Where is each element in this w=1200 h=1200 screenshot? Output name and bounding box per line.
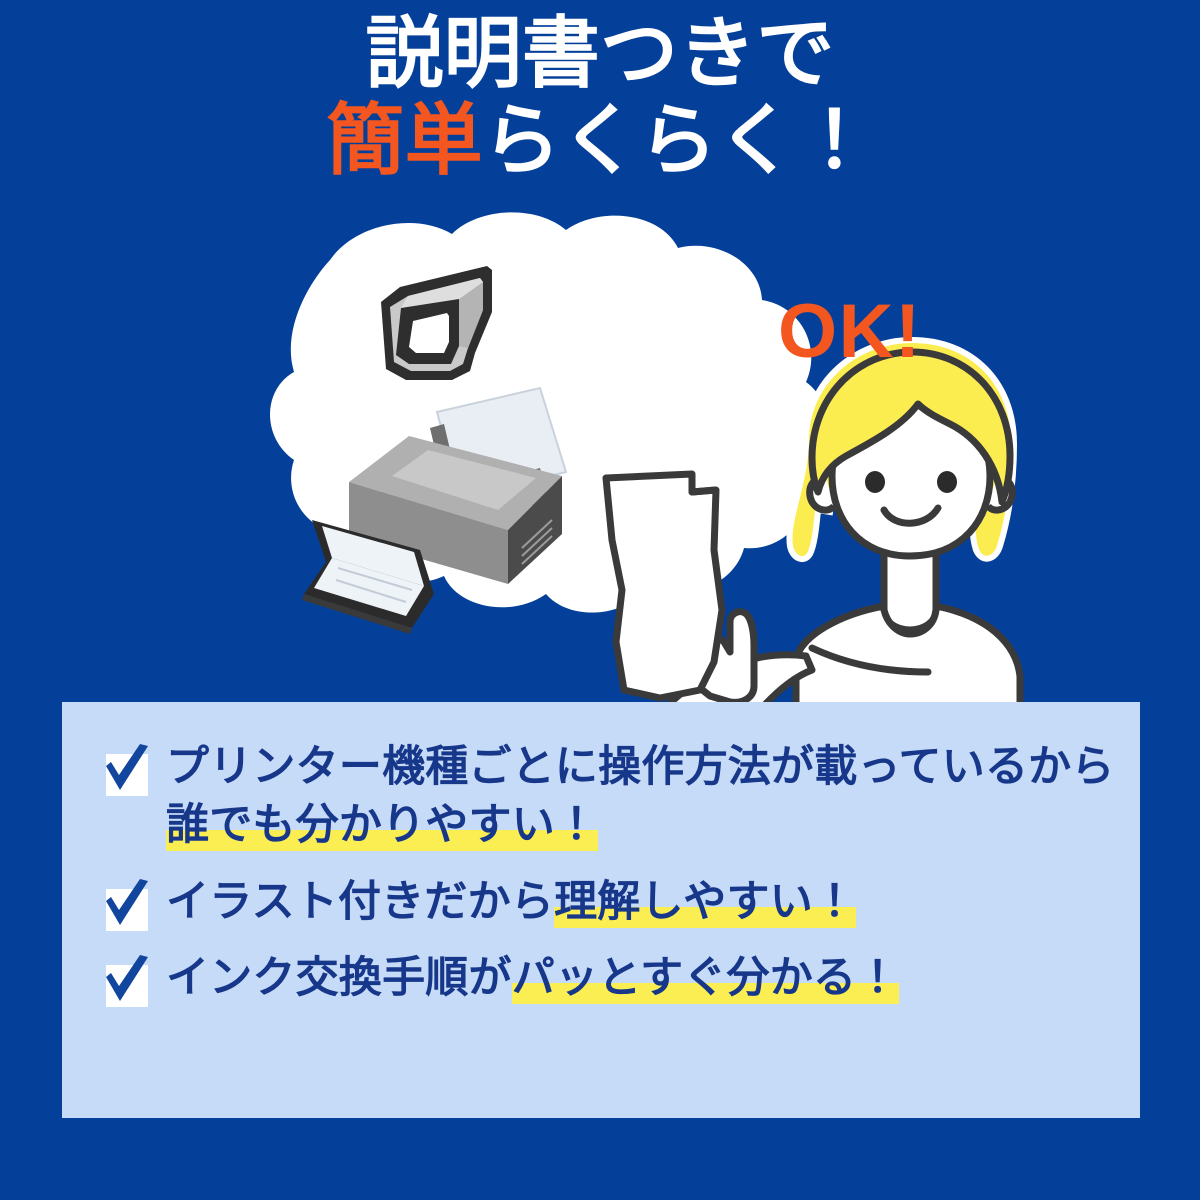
ok-callout-label: OK! [778, 288, 922, 375]
headline-line-1: 説明書つきで [0, 12, 1200, 95]
benefit-1-plain-1: プリンター機種ごとに操作方法が載って [166, 743, 942, 791]
benefit-2-plain-1: イラスト付きだから [166, 878, 554, 926]
list-item: プリンター機種ごとに操作方法が載っているから誰でも分かりやすい！ [100, 736, 1116, 855]
benefits-list: プリンター機種ごとに操作方法が載っているから誰でも分かりやすい！ イラスト付きだ… [100, 736, 1116, 1008]
eye-left [865, 471, 885, 493]
headline-line-2-rest: らくらく！ [483, 96, 874, 184]
benefit-2-highlight: 理解しやすい！ [554, 878, 856, 928]
benefit-3-plain-1: インク交換手順が [166, 954, 512, 1002]
list-item: インク交換手順がパッとすぐ分かる！ [100, 947, 1116, 1007]
list-item-text: インク交換手順がパッとすぐ分かる！ [166, 947, 899, 1007]
promo-poster: 説明書つきで 簡単らくらく！ OK! [0, 0, 1200, 1200]
headline-accent-word: 簡単 [326, 96, 482, 184]
instruction-sheet [606, 474, 722, 698]
benefit-1-highlight: 誰でも分かりやすい！ [166, 801, 598, 851]
list-item-text: イラスト付きだから理解しやすい！ [166, 871, 856, 931]
benefit-1-plain-2: いるから [942, 743, 1115, 791]
checkmark-icon [100, 744, 152, 796]
hero-illustration [0, 190, 1200, 710]
checkmark-icon [100, 955, 152, 1007]
list-item: イラスト付きだから理解しやすい！ [100, 871, 1116, 931]
benefit-3-highlight: パッとすぐ分かる！ [512, 954, 900, 1004]
page-title: 説明書つきで 簡単らくらく！ [0, 12, 1200, 181]
benefits-panel: プリンター機種ごとに操作方法が載っているから誰でも分かりやすい！ イラスト付きだ… [62, 702, 1140, 1118]
list-item-text: プリンター機種ごとに操作方法が載っているから誰でも分かりやすい！ [166, 736, 1116, 855]
checkmark-icon [100, 879, 152, 931]
eye-right [937, 471, 957, 493]
headline-line-2: 簡単らくらく！ [0, 99, 1200, 182]
